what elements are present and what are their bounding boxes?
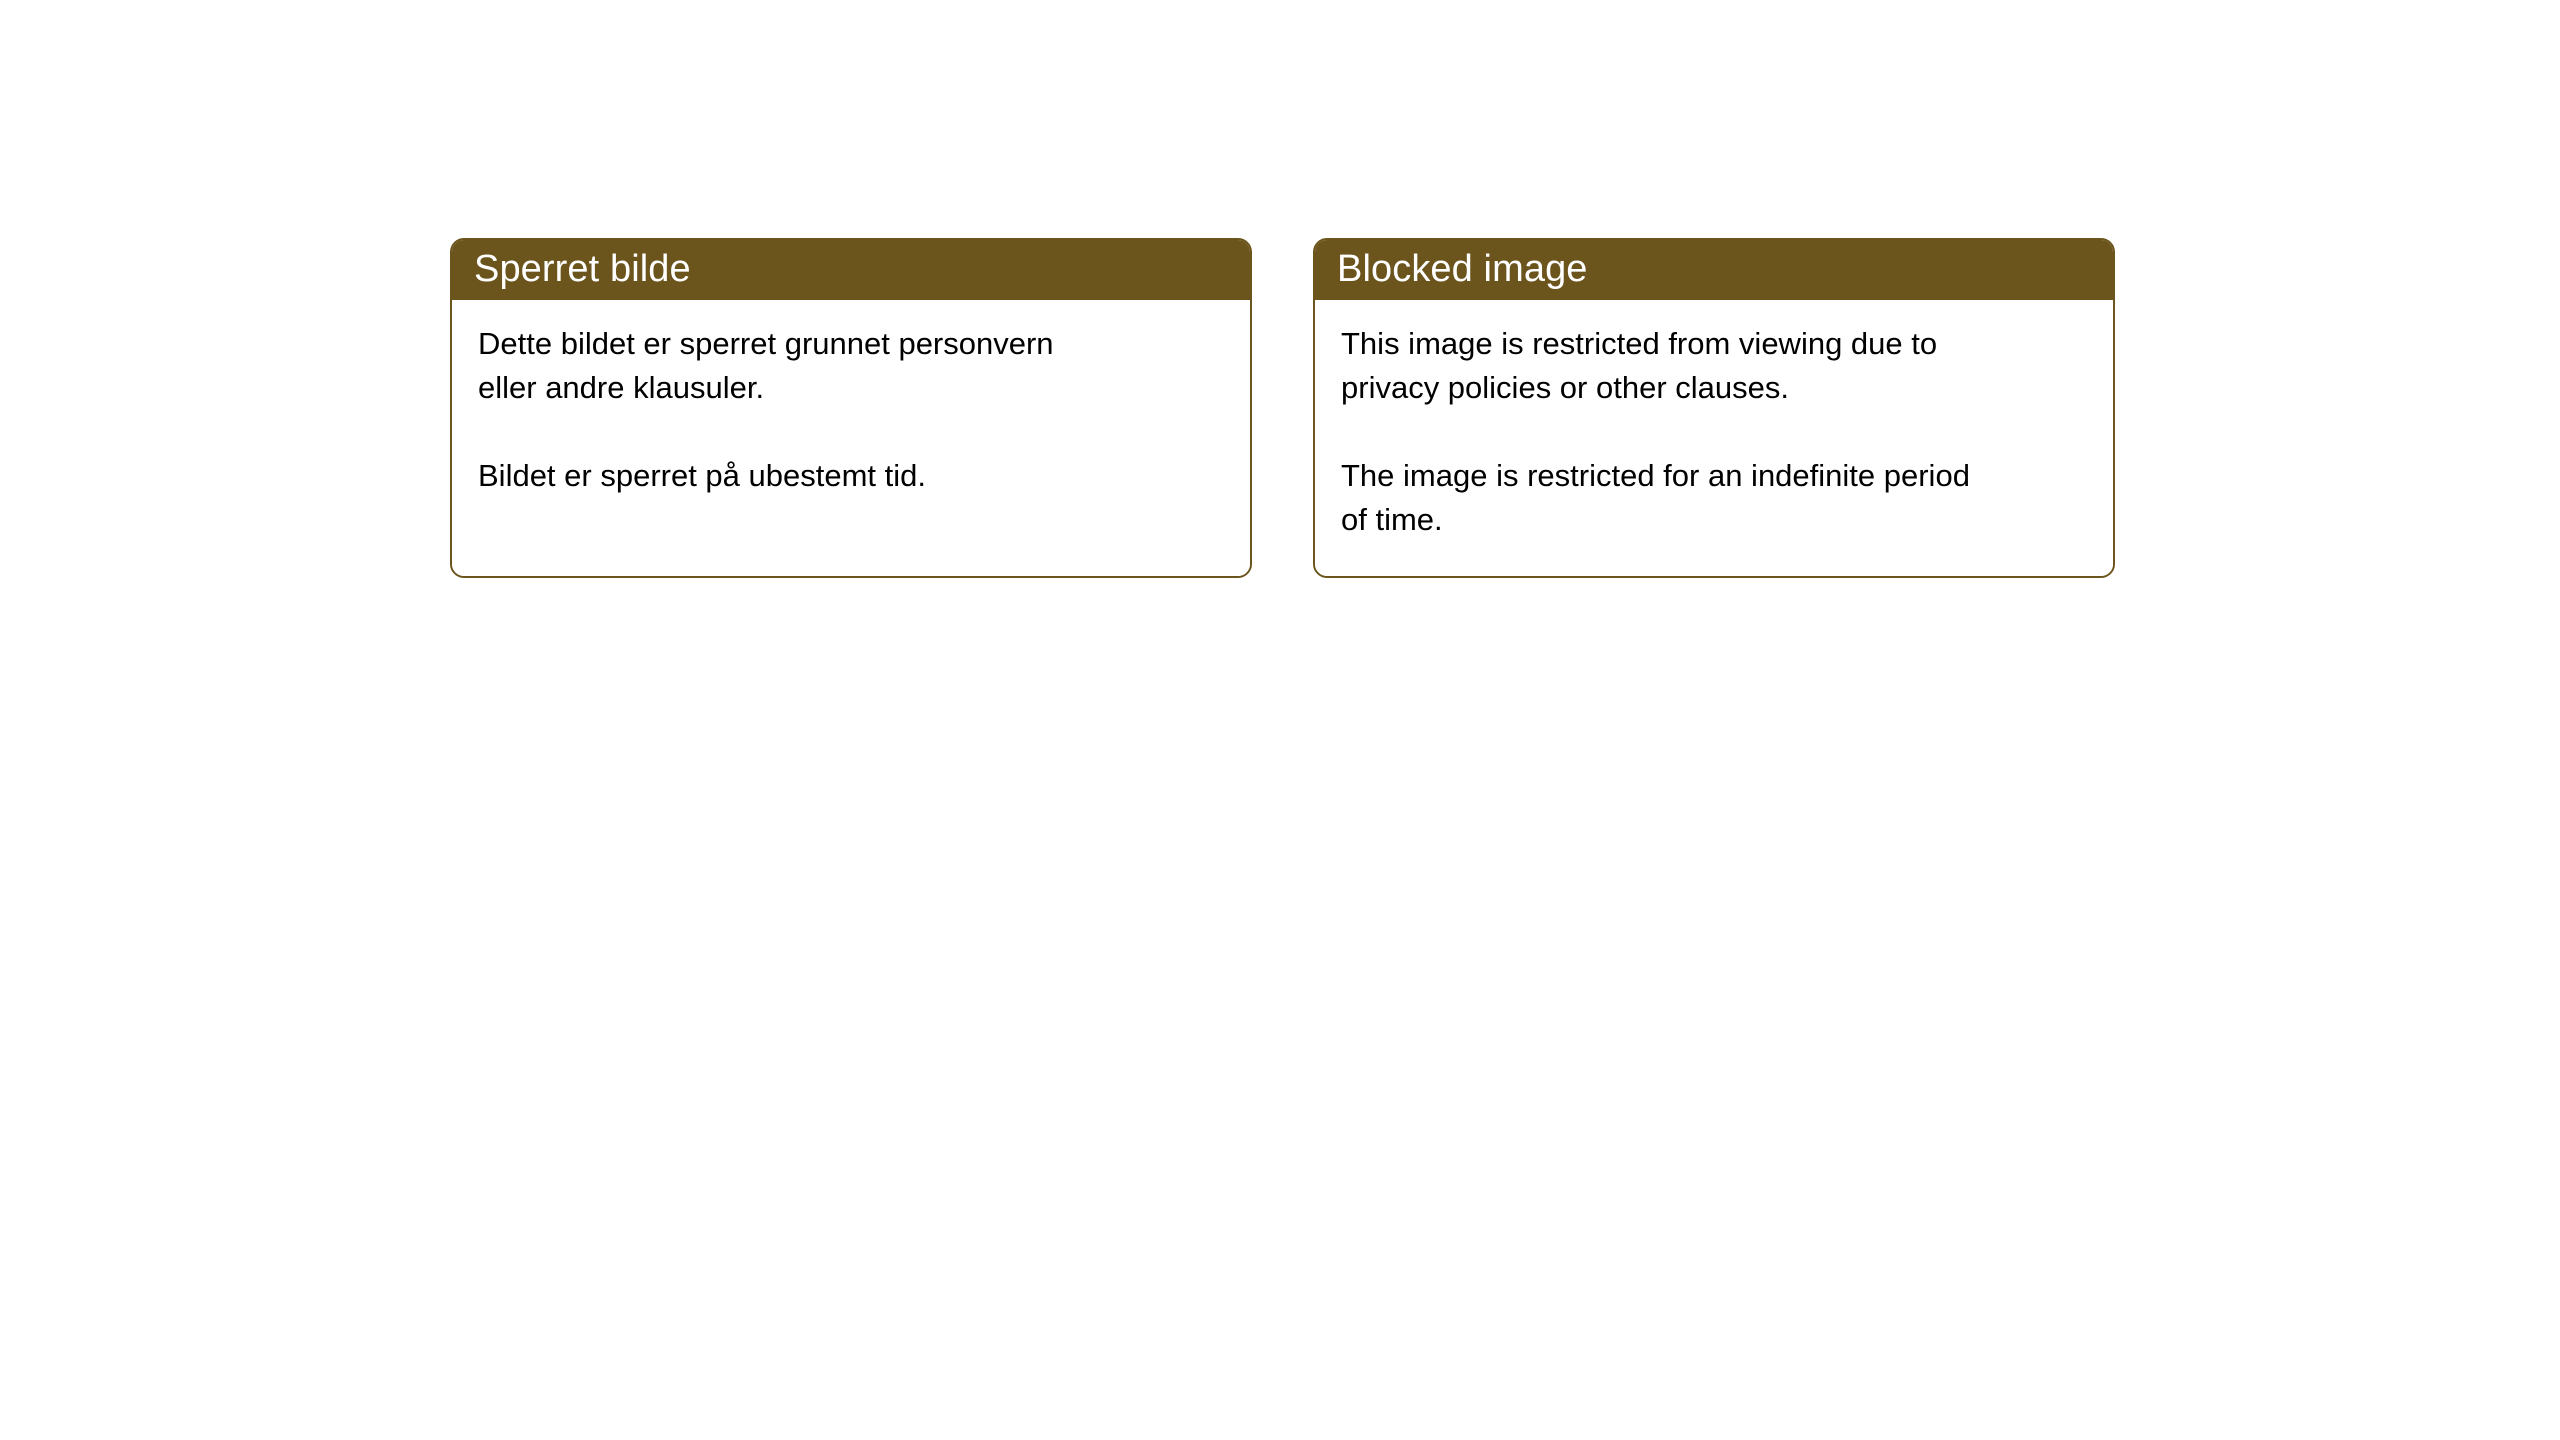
blocked-image-card-english: Blocked image This image is restricted f… <box>1313 238 2115 578</box>
card-paragraph-privacy-norwegian: Dette bildet er sperret grunnet personve… <box>478 322 1224 410</box>
card-header-english: Blocked image <box>1313 238 2115 300</box>
card-body-norwegian: Dette bildet er sperret grunnet personve… <box>452 300 1250 576</box>
card-header-norwegian: Sperret bilde <box>450 238 1252 300</box>
card-paragraph-duration-english: The image is restricted for an indefinit… <box>1341 454 2087 542</box>
blocked-image-notices: Sperret bilde Dette bildet er sperret gr… <box>450 238 2113 578</box>
card-paragraph-privacy-english: This image is restricted from viewing du… <box>1341 322 2087 410</box>
blocked-image-card-norwegian: Sperret bilde Dette bildet er sperret gr… <box>450 238 1252 578</box>
card-body-english: This image is restricted from viewing du… <box>1315 300 2113 576</box>
card-title-norwegian: Sperret bilde <box>474 250 691 288</box>
card-title-english: Blocked image <box>1337 250 1588 288</box>
card-paragraph-duration-norwegian: Bildet er sperret på ubestemt tid. <box>478 454 1224 498</box>
